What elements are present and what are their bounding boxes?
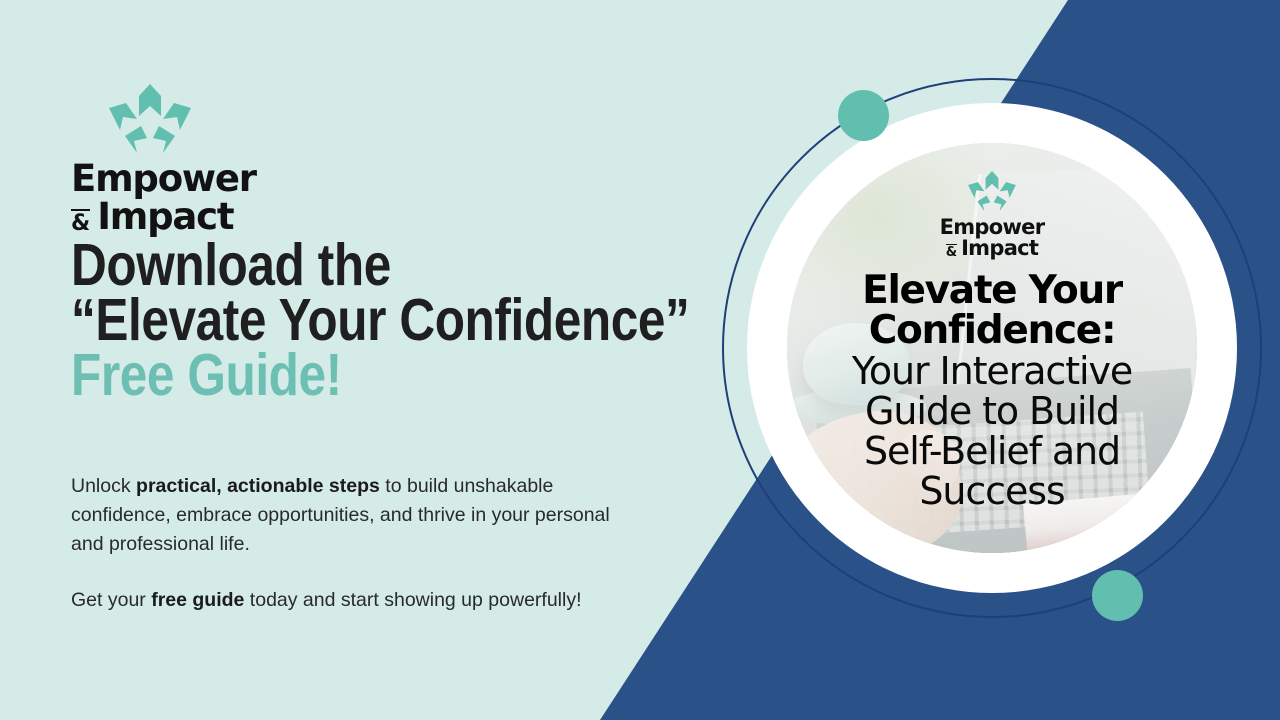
paragraph-2-part-2: today and start showing up powerfully! [244,589,581,611]
body-paragraph-2: Get your free guide today and start show… [71,586,616,615]
paragraph-1-bold: practical, actionable steps [136,475,380,497]
cover-title: Elevate Your Confidence: Your Interactiv… [787,271,1197,512]
cover-brand-wordmark: Empower & Impact [940,217,1045,259]
brand-name-line1: Empower [71,162,331,197]
headline-line-1: Download the [71,238,609,293]
brand-wordmark: Empower & Impact [71,162,331,235]
cover-brand-line1: Empower [940,217,1045,237]
teal-accent-dot-top [838,90,889,141]
promo-canvas: Empower & Impact Download the “Elevate Y… [0,0,1280,720]
cover-title-bold-line-1: Elevate Your [787,271,1197,311]
teal-accent-dot-bottom [1092,570,1143,621]
cover-title-line-2: Guide to Build [787,391,1197,431]
paragraph-1-part-1: Unlock [71,475,136,497]
body-copy: Unlock practical, actionable steps to bu… [71,472,616,614]
cover-brand-line2: Impact [961,238,1038,259]
paragraph-2-part-1: Get your [71,589,151,611]
headline-line-3: Free Guide! [71,348,609,403]
five-petal-star-logo-icon [97,84,203,156]
brand-logo-lockup: Empower & Impact [71,84,331,235]
brand-name-line2: Impact [97,198,233,235]
brand-ampersand: & [71,209,90,235]
guide-cover-composition: Empower & Impact Elevate Your Confidence… [690,50,1280,670]
body-paragraph-1: Unlock practical, actionable steps to bu… [71,472,616,559]
five-petal-star-logo-icon [961,171,1023,213]
cover-title-line-1: Your Interactive [787,351,1197,391]
cover-text-overlay: Empower & Impact Elevate Your Confidence… [787,143,1197,553]
page-title: Download the “Elevate Your Confidence” F… [71,238,711,403]
guide-cover-photo: Empower & Impact Elevate Your Confidence… [787,143,1197,553]
headline-line-2: “Elevate Your Confidence” [71,293,609,348]
left-content-column: Empower & Impact Download the “Elevate Y… [71,0,711,720]
cover-brand-ampersand: & [946,244,957,259]
cover-title-line-3: Self-Belief and [787,431,1197,471]
cover-title-line-4: Success [787,471,1197,511]
cover-title-bold-line-2: Confidence: [787,311,1197,351]
paragraph-2-bold: free guide [151,589,244,611]
